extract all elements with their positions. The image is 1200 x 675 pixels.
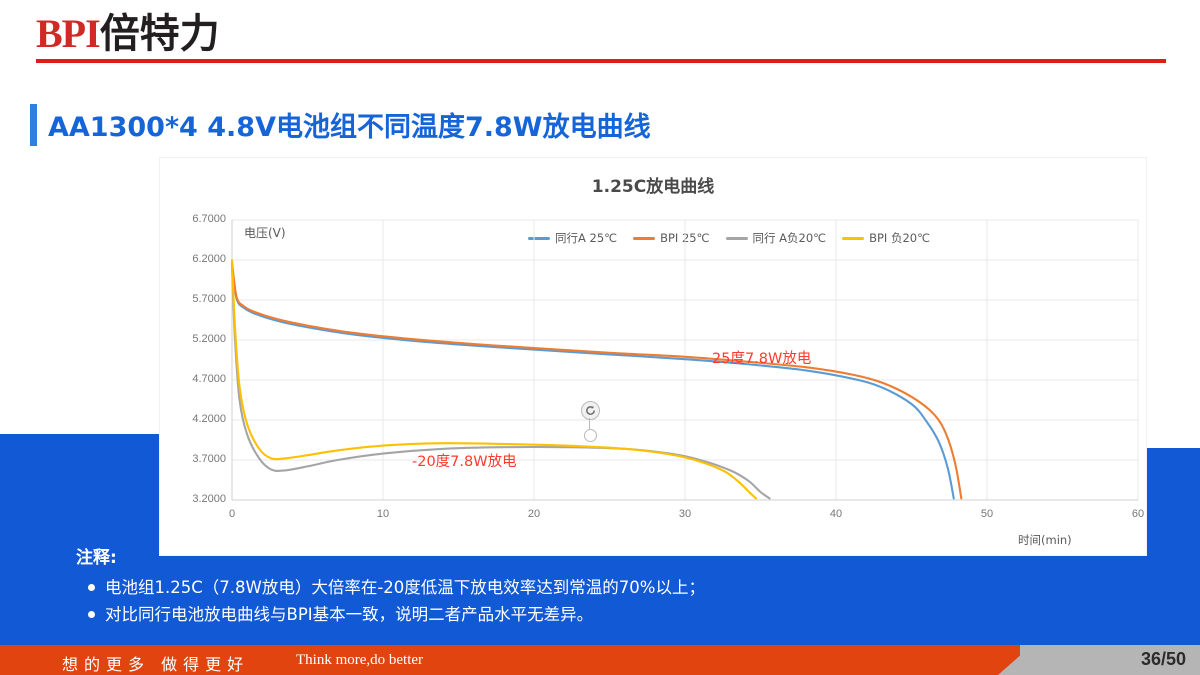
x-tick-label: 30 [670, 508, 700, 520]
y-tick-label: 6.2000 [174, 253, 226, 265]
x-tick-label: 50 [972, 508, 1002, 520]
y-tick-label: 5.2000 [174, 333, 226, 345]
note-text-0: 电池组1.25C（7.8W放电）大倍率在-20度低温下放电效率达到常温的70%以… [105, 575, 705, 602]
x-tick-label: 60 [1123, 508, 1153, 520]
rotation-handle[interactable] [581, 401, 600, 420]
note-item-0: 电池组1.25C（7.8W放电）大倍率在-20度低温下放电效率达到常温的70%以… [88, 575, 1096, 602]
y-axis-title: 电压(V) [244, 224, 286, 241]
notes-block: 注释: 电池组1.25C（7.8W放电）大倍率在-20度低温下放电效率达到常温的… [76, 543, 1096, 628]
chart-card[interactable]: 1.25C放电曲线 同行A 25℃ BPI 25℃ 同行 A负20℃ BPI 负… [160, 158, 1146, 555]
annotation-minus20c: -20度7.8W放电 [412, 450, 517, 471]
logo-latin-text: BPI [36, 11, 100, 56]
y-tick-label: 5.7000 [174, 293, 226, 305]
logo-chinese-text: 倍特力 [100, 11, 220, 57]
x-tick-label: 0 [217, 508, 247, 520]
bullet-icon [88, 611, 95, 618]
chart-svg [160, 158, 1146, 555]
header-divider [36, 59, 1166, 63]
y-tick-label: 6.7000 [174, 213, 226, 225]
rotate-icon[interactable] [581, 401, 600, 420]
y-tick-label: 3.7000 [174, 453, 226, 465]
page-title: AA1300*4 4.8V电池组不同温度7.8W放电曲线 [48, 105, 651, 144]
plot-area: 电压(V) 时间(min) 3.20003.70004.20004.70005.… [160, 158, 1146, 555]
title-accent-bar [30, 104, 37, 146]
x-tick-label: 10 [368, 508, 398, 520]
x-tick-label: 40 [821, 508, 851, 520]
slide: BPI倍特力 AA1300*4 4.8V电池组不同温度7.8W放电曲线 1.25… [0, 0, 1200, 675]
footer-slogan-cn: 想的更多 做得更好 [62, 651, 249, 675]
selection-handle-dot[interactable] [584, 429, 597, 442]
y-tick-label: 4.7000 [174, 373, 226, 385]
footer-bar: 想的更多 做得更好 Think more,do better 36/50 [0, 645, 1200, 675]
annotation-25c: 25度7.8W放电 [712, 347, 811, 368]
notes-heading: 注释: [76, 543, 1096, 568]
note-item-1: 对比同行电池放电曲线与BPI基本一致，说明二者产品水平无差异。 [88, 602, 1096, 629]
bullet-icon [88, 584, 95, 591]
footer-slant-shape [998, 645, 1032, 675]
y-tick-labels: 3.20003.70004.20004.70005.20005.70006.20… [174, 158, 226, 555]
x-tick-label: 20 [519, 508, 549, 520]
note-text-1: 对比同行电池放电曲线与BPI基本一致，说明二者产品水平无差异。 [105, 602, 593, 629]
brand-logo: BPI倍特力 [36, 14, 220, 54]
y-tick-label: 3.2000 [174, 493, 226, 505]
y-tick-label: 4.2000 [174, 413, 226, 425]
footer-slogan-en: Think more,do better [296, 652, 423, 669]
page-number: 36/50 [1141, 649, 1186, 670]
